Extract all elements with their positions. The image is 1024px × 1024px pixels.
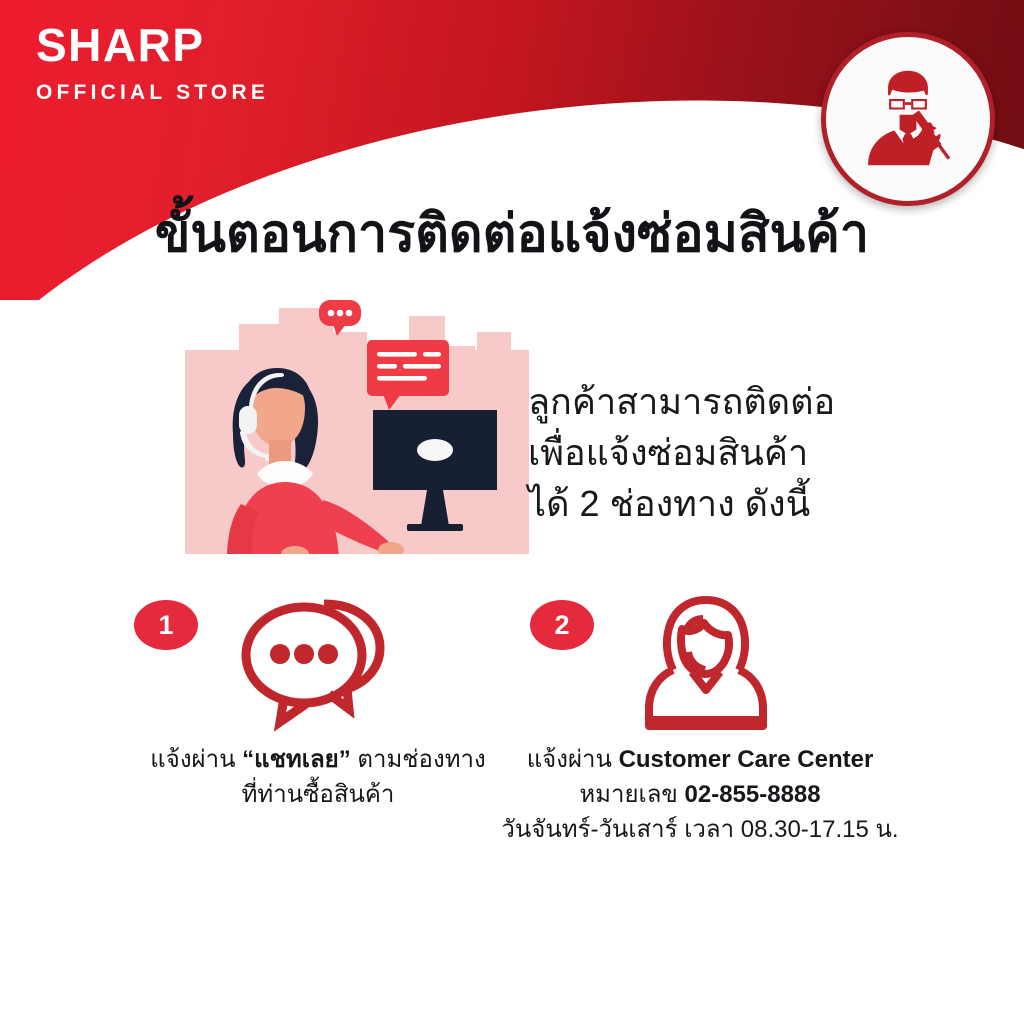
hero-copy: ลูกค้าสามารถติดต่อ เพื่อแจ้งซ่อมสินค้า ไ… [528, 376, 948, 529]
hero-copy-line-1: ลูกค้าสามารถติดต่อ [528, 376, 948, 427]
caption-prefix: แจ้งผ่าน [527, 746, 619, 773]
hero-copy-line-3: ได้ 2 ช่องทาง ดังนี้ [528, 478, 948, 529]
option-2-caption-line-1: แจ้งผ่าน Customer Care Center [490, 743, 910, 778]
option-2-caption-line-3: วันจันทร์-วันเสาร์ เวลา 08.30-17.15 น. [490, 813, 910, 848]
brand-name: SHARP [36, 22, 269, 68]
promo-banner: SHARP OFFICIAL STORE [0, 0, 1024, 1024]
caption-prefix: หมายเลข [579, 781, 684, 808]
phone-number[interactable]: 02-855-8888 [685, 781, 821, 808]
service-hours: วันจันทร์-วันเสาร์ เวลา 08.30-17.15 น. [501, 816, 898, 843]
caption-bold: “แชทเลย” [242, 746, 351, 773]
brand-subtitle: OFFICIAL STORE [36, 81, 269, 105]
hero-copy-line-2: เพื่อแจ้งซ่อมสินค้า [528, 427, 948, 478]
page-title: ขั้นตอนการติดต่อแจ้งซ่อมสินค้า [0, 205, 1024, 265]
caption-prefix: ที่ท่านซื้อสินค้า [242, 781, 395, 808]
caption-prefix: แจ้งผ่าน [150, 746, 242, 773]
caption-bold: Customer Care Center [619, 746, 874, 773]
call-center-agent-illustration [183, 288, 531, 560]
option-2-caption: แจ้งผ่าน Customer Care Center หมายเลข 02… [490, 743, 910, 847]
option-1-number-badge: 1 [134, 600, 198, 650]
option-1-caption-line-1: แจ้งผ่าน “แชทเลย” ตามช่องทาง [108, 743, 528, 778]
caption-suffix: ตามช่องทาง [351, 746, 486, 773]
technician-with-tools-icon [821, 32, 995, 206]
option-2-number-badge: 2 [530, 600, 594, 650]
option-2-caption-line-2: หมายเลข 02-855-8888 [490, 778, 910, 813]
chat-bubbles-icon [232, 588, 412, 733]
headset-agent-icon [616, 588, 796, 733]
option-1-caption-line-2: ที่ท่านซื้อสินค้า [108, 778, 528, 813]
option-1-caption: แจ้งผ่าน “แชทเลย” ตามช่องทาง ที่ท่านซื้อ… [108, 743, 528, 813]
brand-logo: SHARP OFFICIAL STORE [36, 22, 269, 105]
